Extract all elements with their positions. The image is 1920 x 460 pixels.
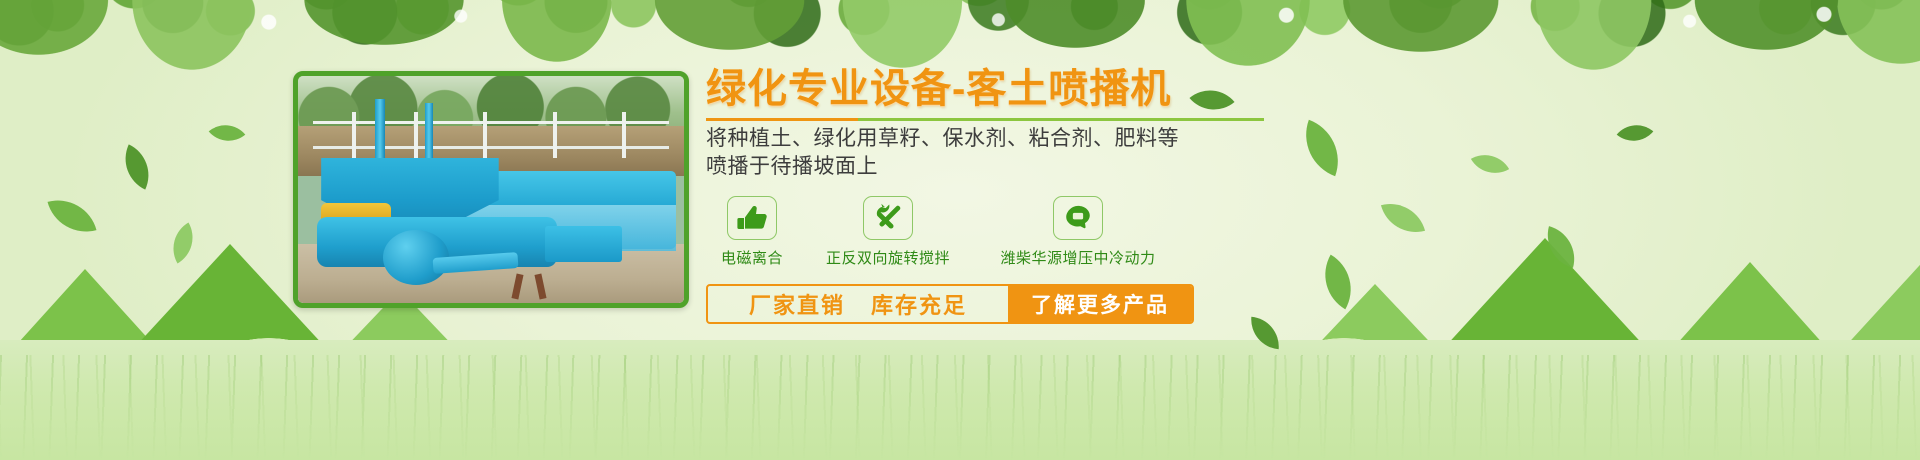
photo-post [352,112,356,157]
floating-leaf-icon [163,223,204,264]
floating-leaf-icon [48,192,97,241]
photo-machine-box [545,226,622,262]
photo-railing [313,146,668,149]
divider-green-segment [858,118,1264,121]
cta-tag-right: 库存充足 [871,288,967,320]
cta-tag-left: 厂家直销 [749,288,845,320]
photo-railing [313,121,668,124]
feature-label: 正反双向旋转搅拌 [826,247,950,268]
page-title: 绿化专业设备-客土喷播机 [706,66,1326,112]
photo-post [414,112,418,157]
subtitle-line-1: 将种植土、绿化用草籽、保水剂、粘合剂、肥料等 [706,125,1326,153]
title-divider [706,118,1264,121]
floating-leaf-icon [1471,145,1509,183]
wrench-screwdriver-icon [873,203,903,233]
banner-content: 绿化专业设备-客土喷播机 将种植土、绿化用草籽、保水剂、粘合剂、肥料等 喷播于待… [706,66,1326,324]
grass-field [0,340,1920,460]
divider-orange-segment [706,118,858,121]
feature-label: 电磁离合 [721,247,783,268]
mountain-peak [1650,262,1850,374]
foliage-dark-layer [0,0,1920,65]
floating-leaf-icon [1617,115,1654,152]
engine-power-icon [1063,204,1093,232]
floating-leaf-icon [209,115,246,152]
feature-icon-box [863,196,913,240]
feature-item-weichai-power[interactable]: 潍柴华源增压中冷动力 [978,196,1178,268]
feature-item-electromagnetic-clutch[interactable]: 电磁离合 [706,196,798,268]
grass-ridge [0,334,1920,364]
cta-row: 厂家直销 库存充足 了解更多产品 [706,284,1194,324]
feature-list: 电磁离合 正反双向旋转搅拌 [706,196,1326,268]
floating-leaf-icon [114,144,159,189]
photo-post [553,112,557,157]
grass-blades [0,355,1920,460]
foliage-blossom-dots [0,6,1920,52]
thumbs-up-icon [737,205,767,231]
photo-post [483,112,487,157]
learn-more-button[interactable]: 了解更多产品 [1008,286,1192,322]
floating-leaf-icon [1381,196,1425,240]
mountain-peak [1420,238,1670,374]
promo-banner: 绿化专业设备-客土喷播机 将种植土、绿化用草籽、保水剂、粘合剂、肥料等 喷播于待… [0,0,1920,460]
product-photo-frame[interactable] [293,71,689,308]
mountain-peak [1820,254,1920,374]
feature-icon-box [1053,196,1103,240]
product-photo [298,76,684,303]
feature-item-bidirectional-mixing[interactable]: 正反双向旋转搅拌 [798,196,978,268]
mountain-peak [0,269,180,374]
subtitle-line-2: 喷播于待播坡面上 [706,153,1326,181]
foliage-hanging-layer [0,0,1920,70]
feature-label: 潍柴华源增压中冷动力 [1000,247,1155,268]
feature-icon-box [727,196,777,240]
floating-leaf-icon [1540,226,1582,268]
cta-tagline: 厂家直销 库存充足 [708,286,1008,322]
photo-post [622,112,626,157]
